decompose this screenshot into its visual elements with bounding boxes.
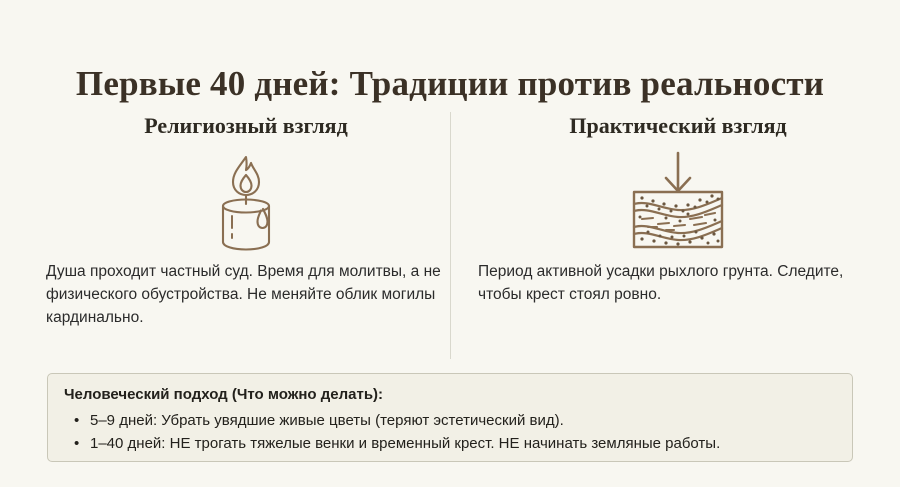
column-heading-religious: Религиозный взгляд	[46, 104, 446, 140]
page-title: Первые 40 дней: Традиции против реальнос…	[0, 63, 900, 105]
column-divider	[450, 112, 451, 359]
soil-settling-icon-wrap	[478, 146, 878, 256]
bullet-glyph: •	[74, 409, 79, 432]
column-heading-practical: Практический взгляд	[478, 104, 878, 140]
list-item: • 5–9 дней: Убрать увядшие живые цветы (…	[64, 409, 836, 432]
column-text-practical: Период активной усадки рыхлого грунта. С…	[478, 256, 878, 306]
candle-icon	[203, 149, 289, 253]
column-practical: Практический взгляд	[478, 104, 878, 359]
candle-icon-wrap	[46, 146, 446, 256]
infographic-page: Первые 40 дней: Традиции против реальнос…	[0, 0, 900, 487]
bullet-glyph: •	[74, 432, 79, 455]
list-item-text: 5–9 дней: Убрать увядшие живые цветы (те…	[90, 412, 564, 429]
column-text-religious: Душа проходит частный суд. Время для мол…	[46, 256, 446, 329]
columns-container: Религиозный взгляд	[0, 104, 900, 359]
list-item-text: 1–40 дней: НЕ трогать тяжелые венки и вр…	[90, 435, 720, 452]
human-approach-callout: Человеческий подход (Что можно делать): …	[47, 373, 853, 462]
callout-list: • 5–9 дней: Убрать увядшие живые цветы (…	[64, 409, 836, 455]
list-item: • 1–40 дней: НЕ трогать тяжелые венки и …	[64, 432, 836, 455]
soil-settling-icon	[622, 149, 734, 253]
column-religious: Религиозный взгляд	[46, 104, 446, 359]
callout-title: Человеческий подход (Что можно делать):	[64, 385, 836, 405]
